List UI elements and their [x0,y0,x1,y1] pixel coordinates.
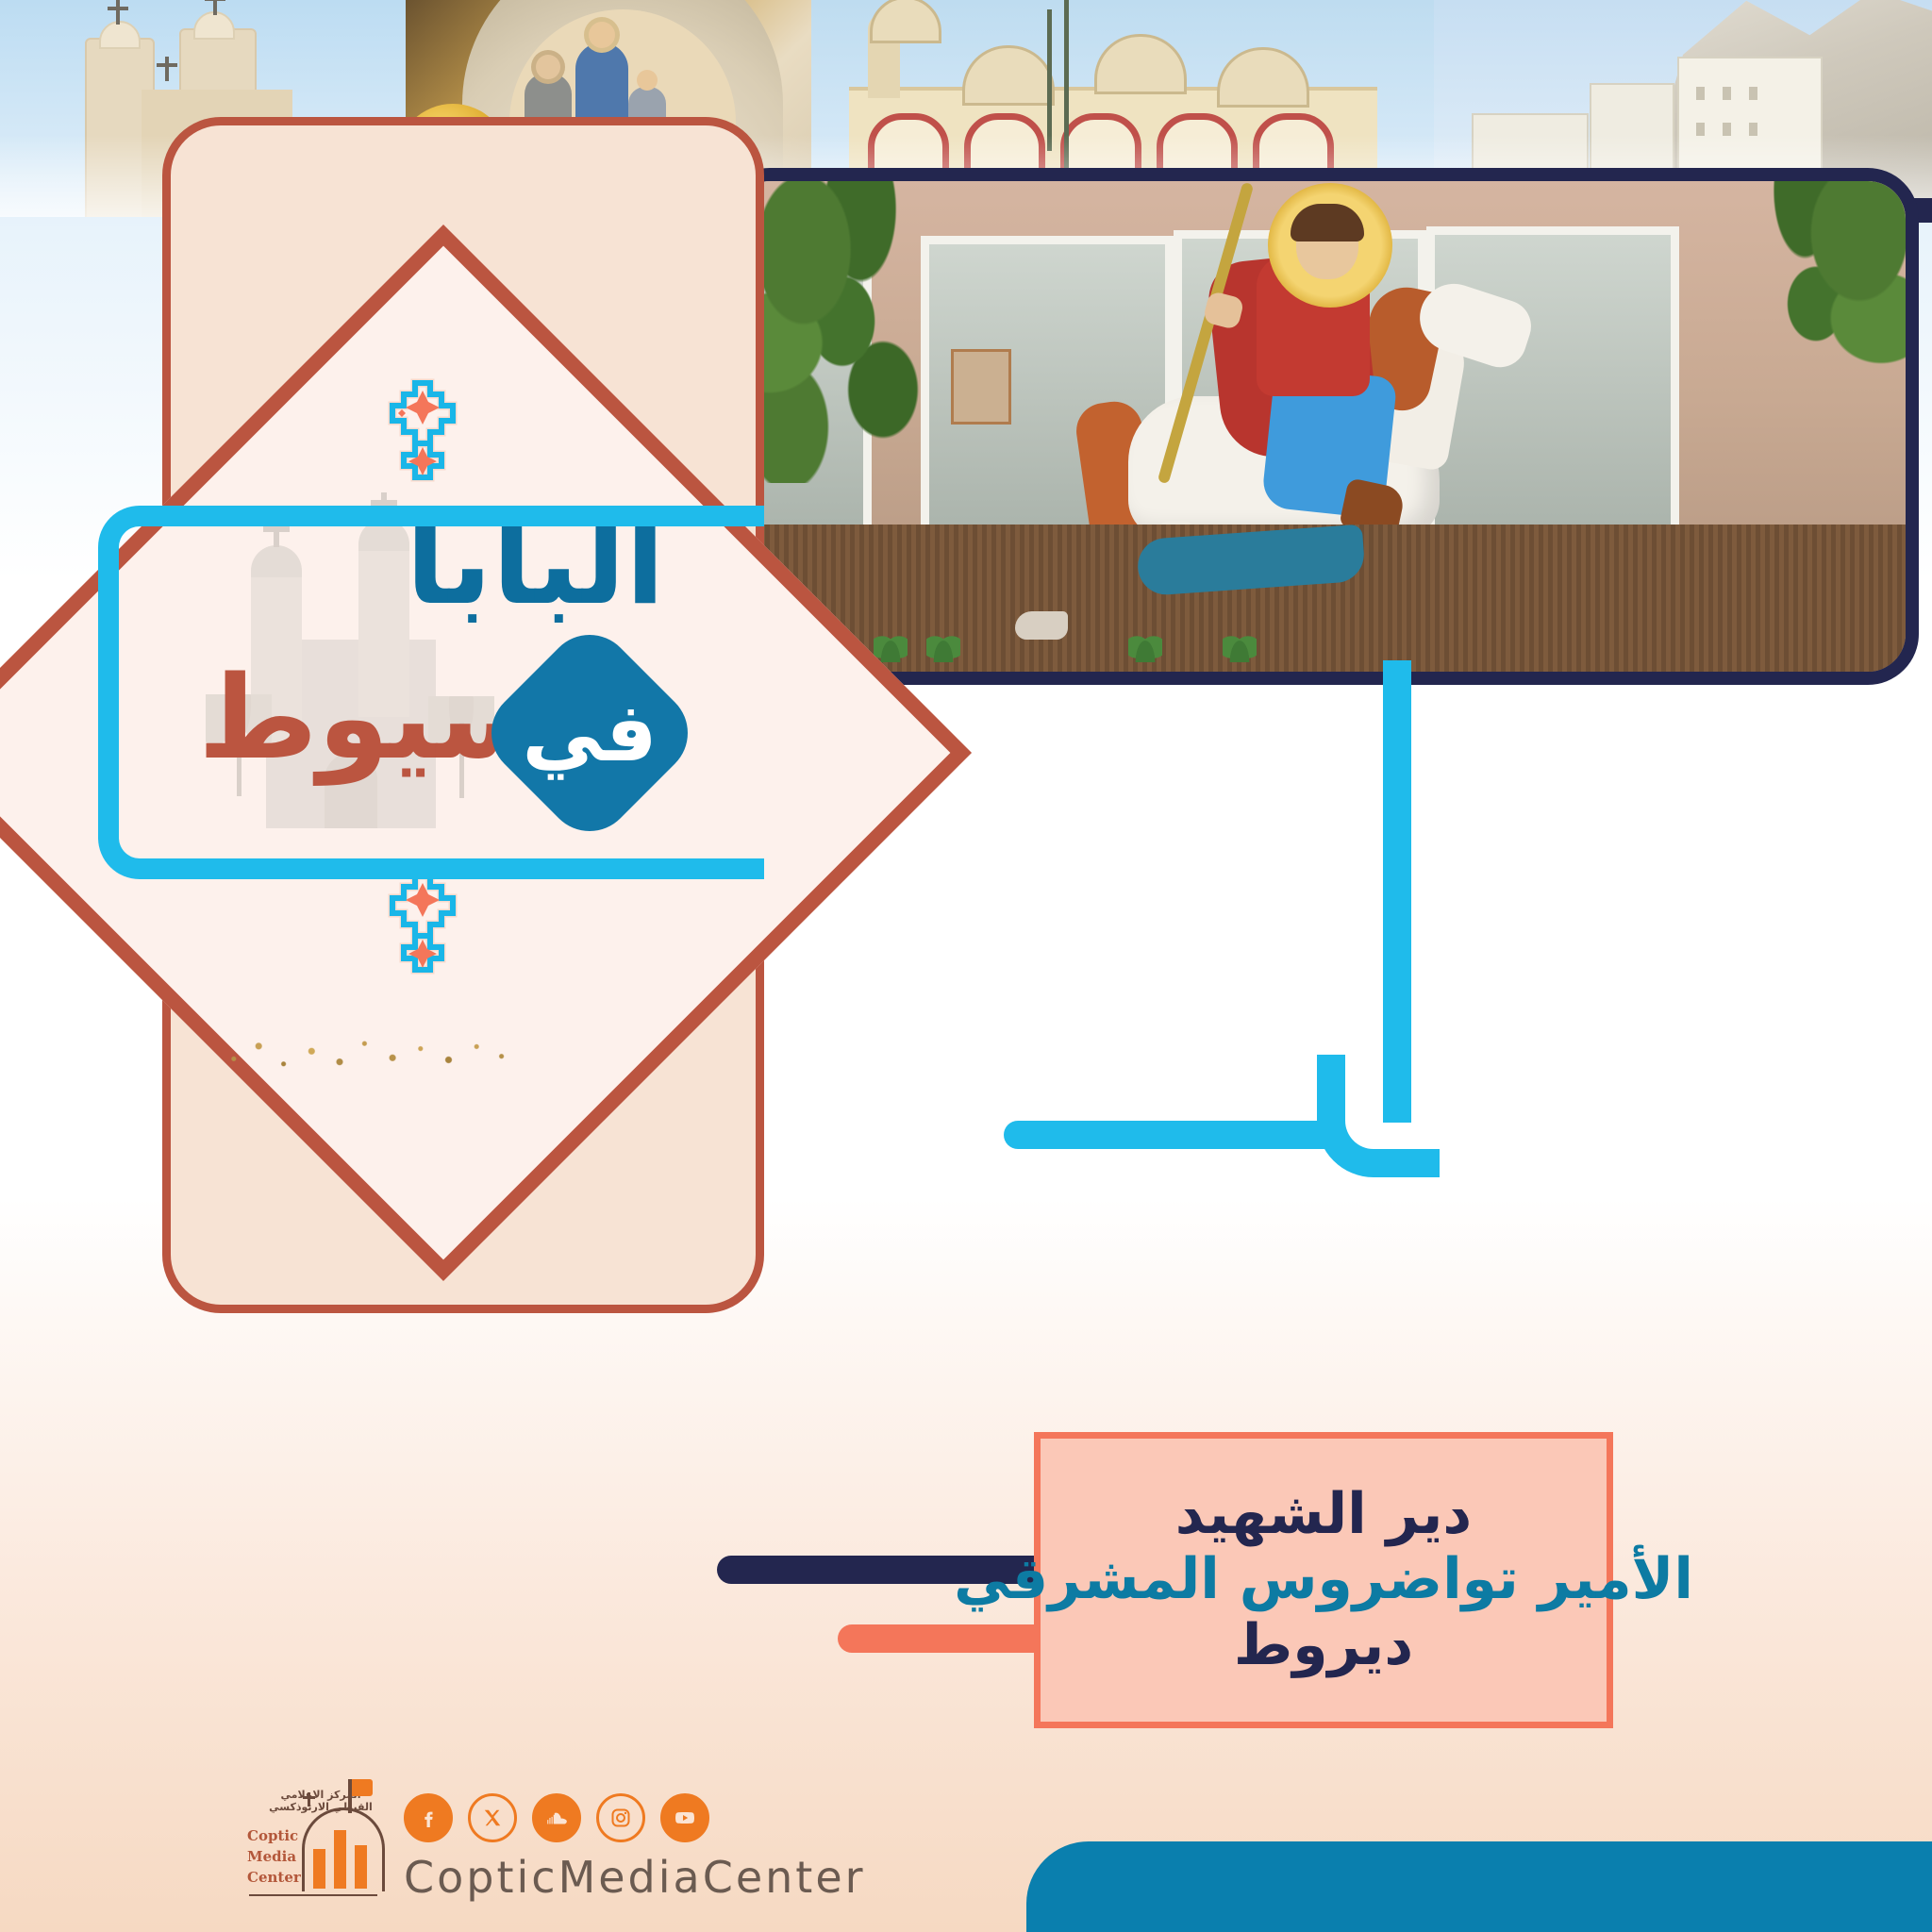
connector-cyan-elbow [1317,1055,1440,1177]
fi-badge: في [474,617,706,849]
connector-cyan-vertical [1383,660,1411,1123]
x-twitter-icon[interactable] [468,1793,517,1842]
label-line-1: دير الشهيد [1175,1483,1472,1546]
label-line-2: الأمير تواضروس المشرقي [954,1548,1693,1611]
logo-word-media: Media [247,1847,304,1868]
logo-cross-icon [308,1792,310,1807]
monastery-photo-card [719,168,1919,685]
coptic-cross-icon-bottom [377,870,468,991]
brand-name: CopticMediaCenter [404,1852,866,1903]
logo-word-center: Center [247,1868,304,1889]
label-line-3: ديروط [1234,1614,1413,1677]
social-links-row [404,1793,866,1842]
wall-icon-frame [951,349,1011,425]
facebook-icon[interactable] [404,1793,453,1842]
instagram-icon[interactable] [596,1793,645,1842]
logo-word-coptic: Coptic [247,1826,304,1847]
bottom-teal-shape [1026,1841,1932,1932]
tree-foliage-right [1707,168,1919,445]
poster-canvas: البابا أسيوط في دير الشهيد الأمير تواضرو… [0,0,1932,1932]
soundcloud-icon[interactable] [532,1793,581,1842]
logo-flag-icon [348,1779,352,1813]
fi-badge-label: في [508,651,672,815]
coptic-cross-icon-top [377,377,468,498]
youtube-icon[interactable] [660,1793,709,1842]
monastery-photo [732,181,1906,672]
connector-cyan-horizontal [1034,1121,1336,1149]
footer: المركز الاعلامي القبطي الارثوذكسي Coptic… [247,1777,908,1919]
coptic-media-center-logo: المركز الاعلامي القبطي الارثوذكسي Coptic… [247,1787,379,1909]
monastery-label-box: دير الشهيد الأمير تواضروس المشرقي ديروط [1034,1432,1613,1728]
gold-sparkle-decoration [215,1028,526,1079]
connector-cyan-cap [1004,1121,1060,1149]
